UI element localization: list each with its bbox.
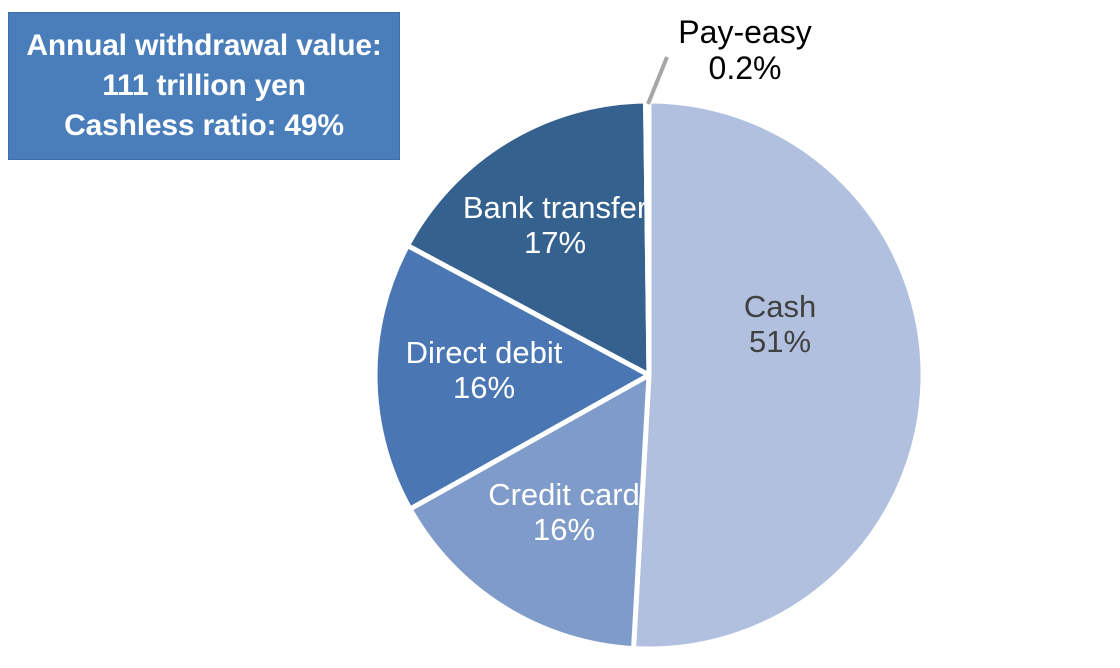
leader-line-pay-easy (648, 57, 667, 104)
pie-chart (0, 0, 1120, 668)
pie-chart-svg (0, 0, 1120, 668)
pie-slice-cash[interactable] (634, 101, 924, 649)
pie-slice-pay-easy[interactable] (646, 101, 649, 375)
pie-slice-group (375, 101, 923, 649)
pie-leader-line-group (648, 57, 667, 104)
chart-canvas: Annual withdrawal value: 111 trillion ye… (0, 0, 1120, 668)
